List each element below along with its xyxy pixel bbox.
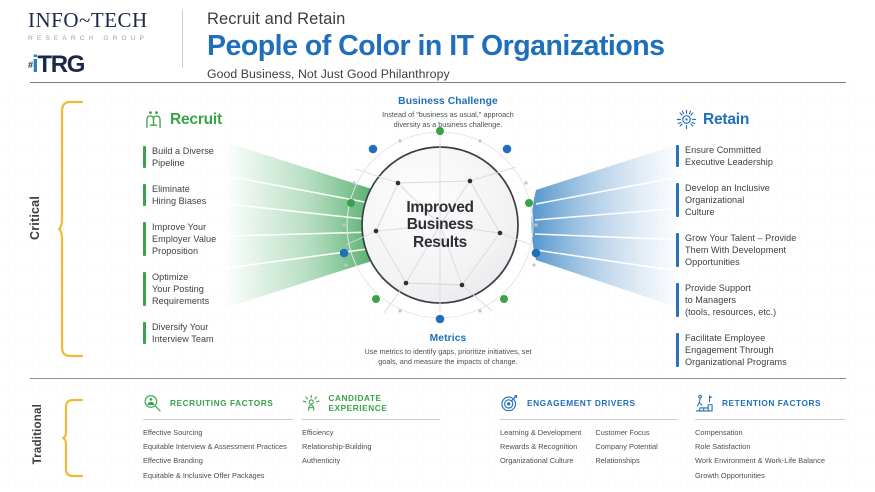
traditional-section-divider [30, 378, 846, 379]
list-item: Improve Your Employer Value Proposition [143, 221, 238, 257]
list-item: Customer Focus [595, 426, 657, 440]
traditional-column-engagement-drivers: ENGAGEMENT DRIVERS Learning & Developmen… [500, 392, 678, 469]
list-item: Build a Diverse Pipeline [143, 145, 238, 169]
retain-list: Ensure Committed Executive LeadershipDev… [676, 144, 806, 368]
header-vertical-divider [182, 10, 183, 68]
infographic-page: INFO~TECH RESEARCH GROUP # iTRG Recruit … [0, 0, 875, 492]
list-item: Authenticity [302, 454, 371, 468]
target-dart-icon [500, 394, 519, 413]
traditional-column-rule [695, 419, 845, 420]
info-tech-logo-wordmark: INFO~TECH [28, 10, 173, 31]
list-item: Ensure Committed Executive Leadership [676, 144, 806, 168]
person-flag-steps-icon [695, 394, 714, 413]
traditional-column-items: Learning & DevelopmentRewards & Recognit… [500, 426, 678, 469]
itrg-logo: # iTRG [28, 53, 173, 77]
list-item: Role Satisfaction [695, 440, 825, 454]
traditional-item-list: Learning & DevelopmentRewards & Recognit… [500, 426, 581, 469]
traditional-column-candidate-experience: CANDIDATE EXPERIENCE EfficiencyRelations… [302, 392, 440, 469]
header-text-block: Recruit and Retain People of Color in IT… [207, 10, 665, 81]
list-item-label: Diversify Your Interview Team [152, 321, 238, 345]
traditional-column-title: RETENTION FACTORS [722, 398, 821, 408]
page-header: INFO~TECH RESEARCH GROUP # iTRG Recruit … [0, 0, 875, 82]
traditional-heading: RETENTION FACTORS [695, 392, 845, 414]
list-item: Eliminate Hiring Biases [143, 183, 238, 207]
list-item-label: Build a Diverse Pipeline [152, 145, 238, 169]
list-item-label: Facilitate Employee Engagement Through O… [685, 332, 806, 368]
list-item: Facilitate Employee Engagement Through O… [676, 332, 806, 368]
traditional-heading: RECRUITING FACTORS [143, 392, 293, 414]
list-item: Provide Support to Managers (tools, reso… [676, 282, 806, 318]
header-tagline: Good Business, Not Just Good Philanthrop… [207, 67, 665, 81]
itrg-wordmark: iTRG [32, 53, 84, 77]
list-item: Relationships [595, 454, 657, 468]
traditional-item-list: Customer FocusCompany PotentialRelations… [595, 426, 657, 469]
traditional-item-list: EfficiencyRelationship-BuildingAuthentic… [302, 426, 371, 469]
traditional-column-items: CompensationRole SatisfactionWork Enviro… [695, 426, 845, 483]
list-item-label: Ensure Committed Executive Leadership [685, 144, 806, 168]
retain-funnel-graphic [520, 130, 685, 320]
metrics-body: Use metrics to identify gaps, prioritize… [318, 347, 578, 367]
list-item: Diversify Your Interview Team [143, 321, 238, 345]
traditional-column-title: ENGAGEMENT DRIVERS [527, 398, 636, 408]
list-item: Equitable Interview & Assessment Practic… [143, 440, 287, 454]
list-item: Equitable & Inclusive Offer Packages [143, 469, 287, 483]
retain-title: Retain [703, 111, 749, 129]
list-item-label: Provide Support to Managers (tools, reso… [685, 282, 806, 318]
list-item-label: Develop an Inclusive Organizational Cult… [685, 182, 806, 218]
traditional-item-list: CompensationRole SatisfactionWork Enviro… [695, 426, 825, 483]
info-tech-logo-subtitle: RESEARCH GROUP [28, 35, 173, 42]
traditional-column-title: RECRUITING FACTORS [170, 398, 273, 408]
idea-burst-person-icon [302, 394, 320, 413]
list-item: Work Environment & Work-Life Balance [695, 454, 825, 468]
list-item: Rewards & Recognition [500, 440, 581, 454]
section-label-traditional: Traditional [32, 404, 44, 464]
list-item: Effective Branding [143, 454, 287, 468]
list-item: Learning & Development [500, 426, 581, 440]
traditional-heading: CANDIDATE EXPERIENCE [302, 392, 440, 414]
list-item: Company Potential [595, 440, 657, 454]
list-item-label: Improve Your Employer Value Proposition [152, 221, 238, 257]
traditional-column-title: CANDIDATE EXPERIENCE [328, 393, 440, 413]
traditional-heading: ENGAGEMENT DRIVERS [500, 392, 678, 414]
traditional-column-rule [302, 419, 440, 420]
central-circle-label: Improved Business Results [340, 125, 540, 325]
list-item: Growth Opportunities [695, 469, 825, 483]
list-item: Compensation [695, 426, 825, 440]
list-item: Develop an Inclusive Organizational Cult… [676, 182, 806, 218]
list-item: Relationship-Building [302, 440, 371, 454]
traditional-column-retention-factors: RETENTION FACTORS CompensationRole Satis… [695, 392, 845, 483]
critical-brace [58, 100, 84, 358]
list-item: Effective Sourcing [143, 426, 287, 440]
list-item: Grow Your Talent – Provide Them With Dev… [676, 232, 806, 268]
recruit-title: Recruit [170, 111, 222, 129]
traditional-column-rule [143, 419, 293, 420]
recruit-heading: Recruit [143, 109, 222, 130]
page-title: People of Color in IT Organizations [207, 31, 665, 63]
business-challenge-heading: Business Challenge [318, 96, 578, 107]
list-item-label: Grow Your Talent – Provide Them With Dev… [685, 232, 806, 268]
traditional-column-items: EfficiencyRelationship-BuildingAuthentic… [302, 426, 440, 469]
section-label-critical: Critical [28, 196, 42, 240]
traditional-column-recruiting-factors: RECRUITING FACTORS Effective SourcingEqu… [143, 392, 293, 483]
recruit-list: Build a Diverse PipelineEliminate Hiring… [143, 145, 238, 345]
list-item-label: Optimize Your Posting Requirements [152, 271, 238, 307]
central-circle-graphic: Improved Business Results [340, 125, 540, 325]
list-item: Optimize Your Posting Requirements [143, 271, 238, 307]
list-item: Efficiency [302, 426, 371, 440]
header-eyebrow: Recruit and Retain [207, 10, 665, 30]
magnifier-people-icon [143, 394, 162, 413]
retain-heading: Retain [676, 109, 749, 130]
traditional-item-list: Effective SourcingEquitable Interview & … [143, 426, 287, 483]
itrg-trg-letters: TRG [37, 51, 84, 78]
traditional-column-items: Effective SourcingEquitable Interview & … [143, 426, 293, 483]
people-group-icon [143, 109, 164, 130]
gear-burst-icon [676, 109, 697, 130]
traditional-brace [62, 398, 84, 478]
metrics-caption: Metrics Use metrics to identify gaps, pr… [318, 333, 578, 367]
logo-block: INFO~TECH RESEARCH GROUP # iTRG [28, 10, 173, 77]
header-bottom-divider [30, 82, 846, 83]
metrics-heading: Metrics [318, 333, 578, 344]
traditional-column-rule [500, 419, 678, 420]
list-item-label: Eliminate Hiring Biases [152, 183, 238, 207]
list-item: Organizational Culture [500, 454, 581, 468]
